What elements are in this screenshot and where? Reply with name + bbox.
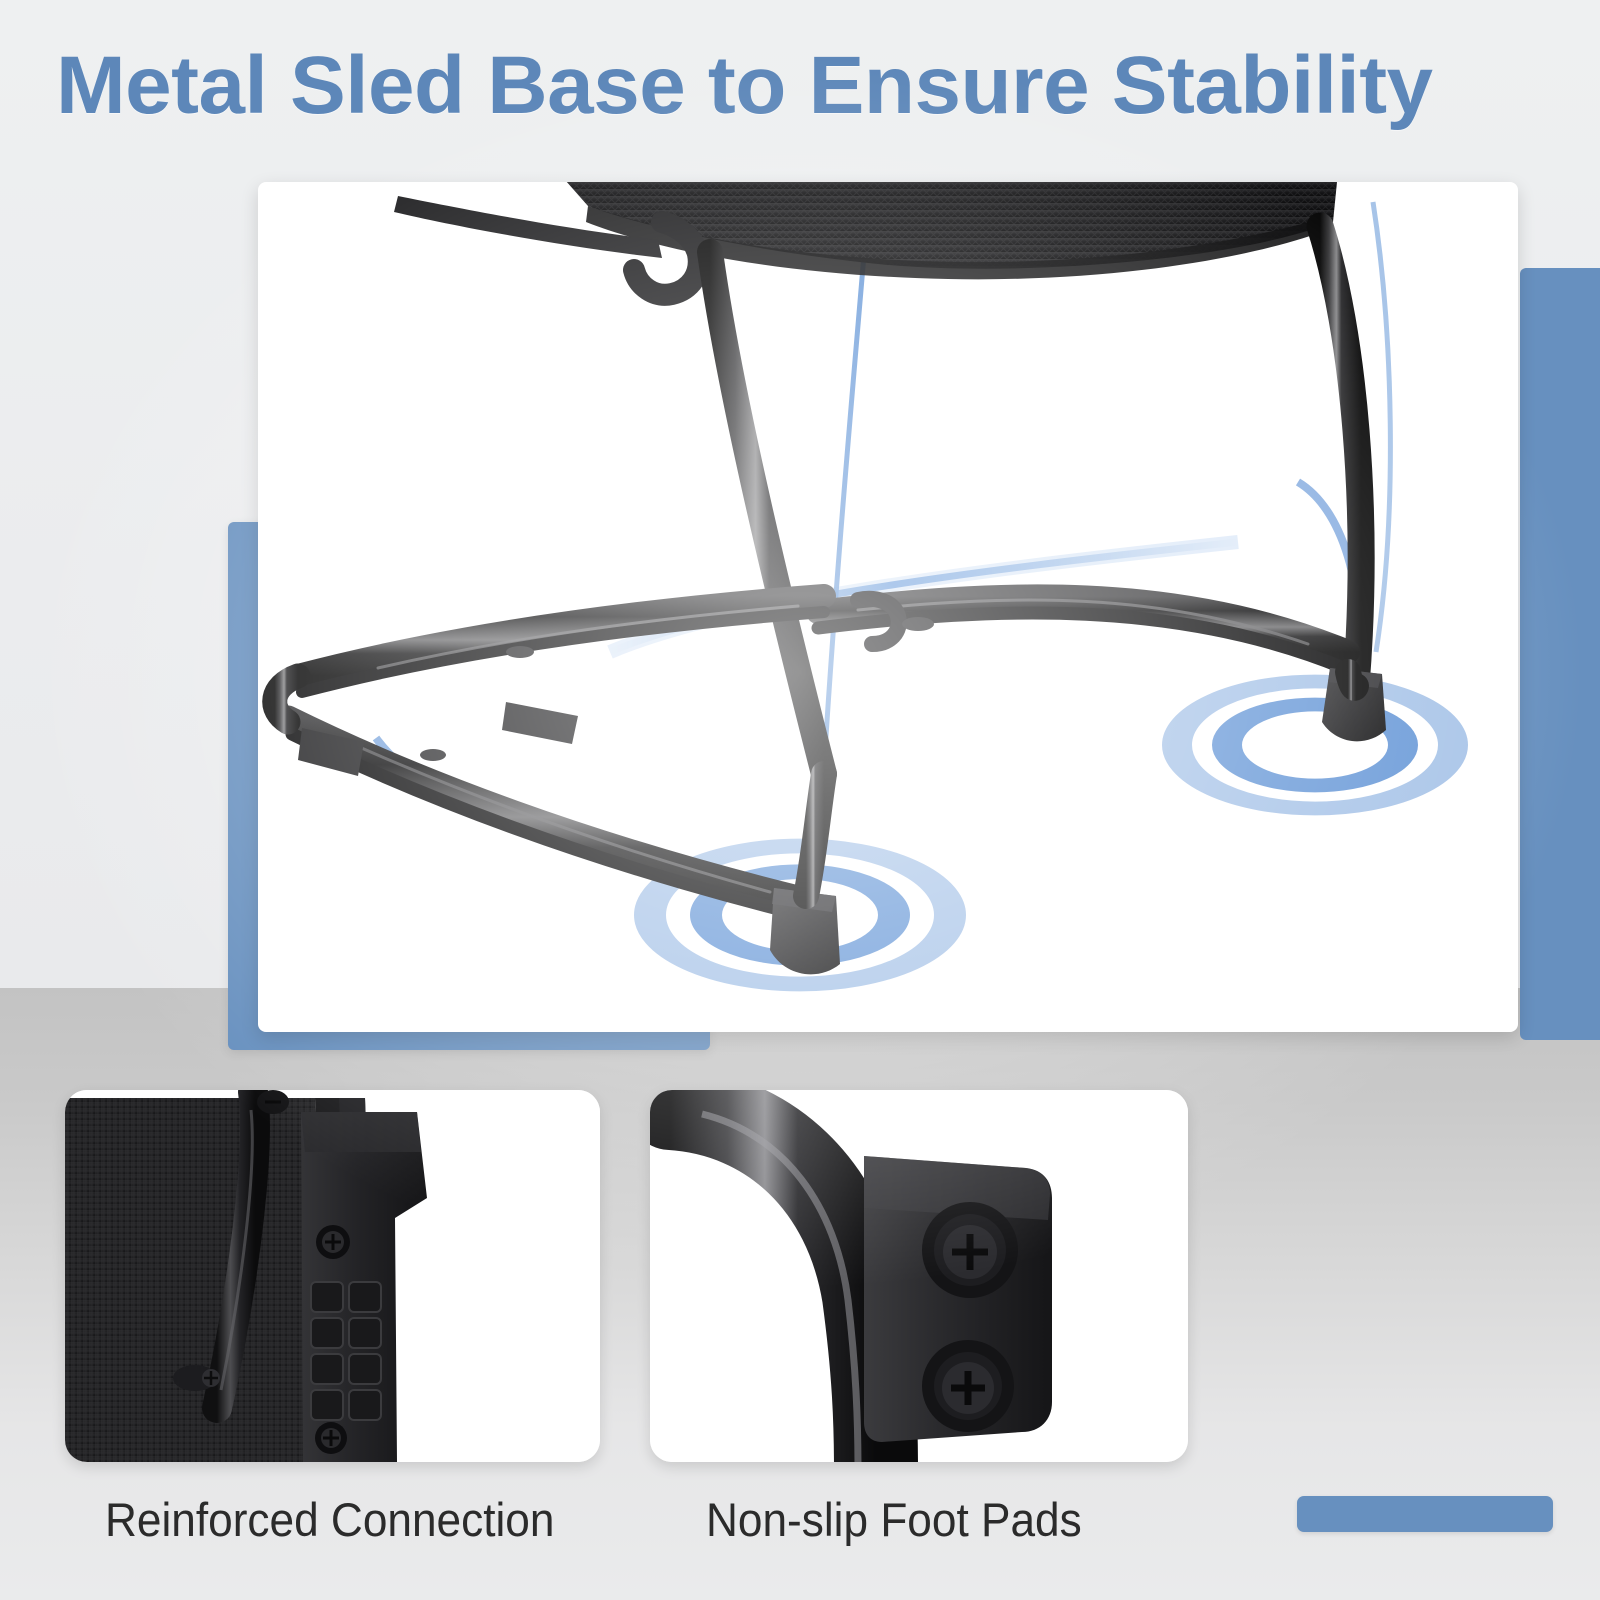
caption-non-slip-foot-pads: Non-slip Foot Pads (706, 1492, 1082, 1548)
page-title: Metal Sled Base to Ensure Stability (56, 38, 1586, 134)
accent-bar-bottom-right (1297, 1496, 1553, 1532)
screw-icon (316, 1225, 350, 1259)
non-slip-foot-pads-photo (650, 1090, 1188, 1462)
accent-block-right (1520, 268, 1600, 1040)
hero-image-panel (258, 182, 1518, 1032)
screw-icon (257, 1090, 289, 1114)
screw-icon (315, 1422, 347, 1454)
inset-card-reinforced-connection (65, 1090, 600, 1462)
inset-card-non-slip-foot-pads (650, 1090, 1188, 1462)
screw-icon (922, 1202, 1018, 1298)
screw-icon (922, 1340, 1014, 1432)
caption-reinforced-connection: Reinforced Connection (105, 1492, 554, 1548)
reinforced-connection-photo (65, 1090, 600, 1462)
product-feature-graphic: Metal Sled Base to Ensure Stability (0, 0, 1600, 1600)
sled-base-photo (258, 182, 1518, 1032)
